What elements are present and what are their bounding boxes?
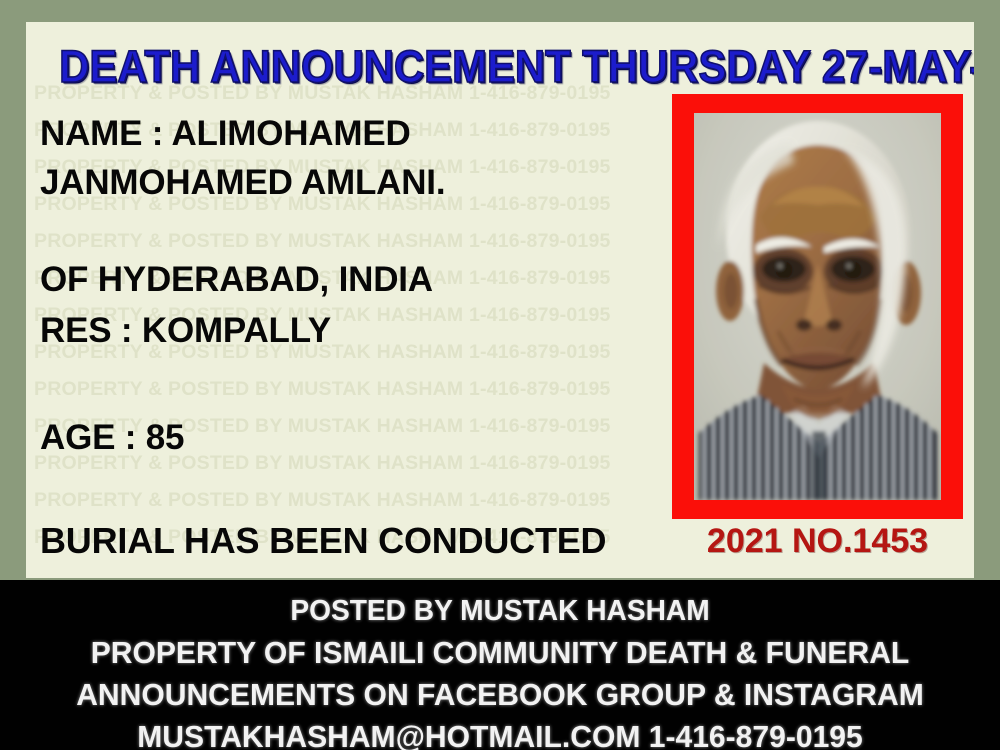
footer-property-line: PROPERTY OF ISMAILI COMMUNITY DEATH & FU… (15, 637, 985, 668)
detail-age: AGE : 85 (40, 420, 690, 455)
portrait-image (694, 113, 941, 500)
footer-credits: POSTED BY MUSTAK HASHAM PROPERTY OF ISMA… (0, 580, 1000, 750)
reference-number: 2021 NO.1453 (672, 524, 963, 558)
detail-origin: OF HYDERABAD, INDIA (40, 262, 690, 297)
page-title: DEATH ANNOUNCEMENT THURSDAY 27-MAY-2021 (59, 44, 941, 89)
main-panel: PROPERTY & POSTED BY MUSTAK HASHAM 1-416… (26, 22, 974, 578)
detail-name-line-2: JANMOHAMED AMLANI. (40, 165, 690, 200)
portrait-photo (694, 113, 941, 500)
deceased-details: NAME : ALIMOHAMED JANMOHAMED AMLANI. OF … (40, 110, 690, 559)
death-announcement-poster: PROPERTY & POSTED BY MUSTAK HASHAM 1-416… (0, 0, 1000, 750)
detail-name-line-1: NAME : ALIMOHAMED (40, 116, 690, 151)
footer-posted-by: POSTED BY MUSTAK HASHAM (15, 597, 985, 626)
detail-residence: RES : KOMPALLY (40, 313, 690, 348)
footer-channels-line: ANNOUNCEMENTS ON FACEBOOK GROUP & INSTAG… (15, 679, 985, 710)
detail-burial-status: BURIAL HAS BEEN CONDUCTED (40, 523, 690, 559)
footer-contact-line: MUSTAKHASHAM@HOTMAIL.COM 1-416-879-0195 (15, 721, 985, 750)
photo-frame (672, 94, 963, 519)
